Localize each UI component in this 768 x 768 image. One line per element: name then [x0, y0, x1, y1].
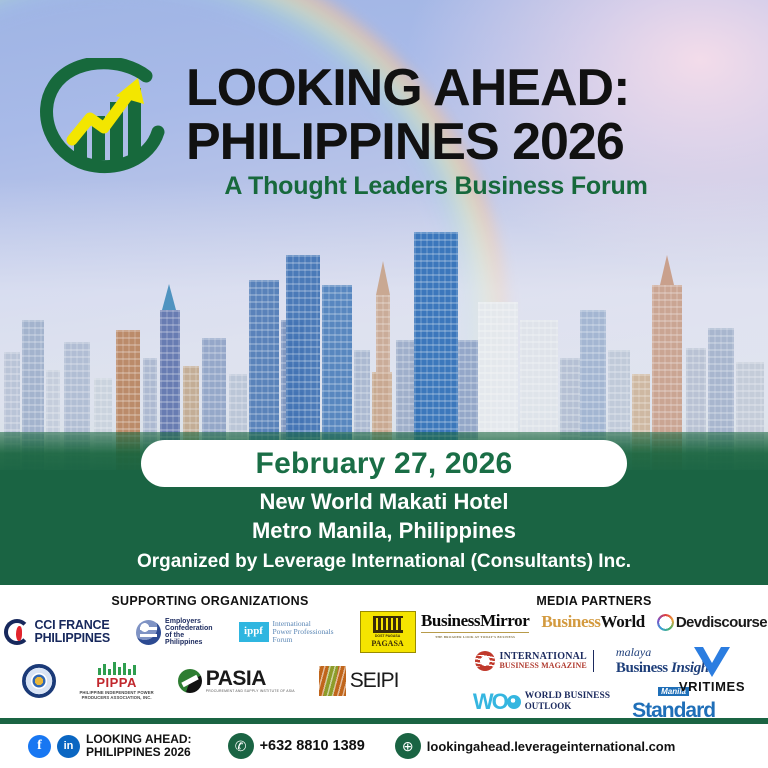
title-block: LOOKING AHEAD: PHILIPPINES 2026 [186, 62, 746, 169]
wbo-monogram-icon: WO [473, 691, 521, 714]
looking-ahead-growth-logo [34, 58, 182, 178]
devdiscourse-wordmark: Devdiscourse [676, 614, 767, 631]
logo-pasia: PASIA PROCUREMENT AND SUPPLY INSTITUTE O… [178, 668, 295, 693]
supporting-organizations-column: SUPPORTING ORGANIZATIONS CCI FRANCE PHIL… [0, 585, 420, 718]
event-date: February 27, 2026 [256, 447, 513, 481]
logo-ippf: ippf International Power Professionals F… [239, 620, 334, 643]
media-partners-heading: MEDIA PARTNERS [420, 594, 768, 608]
media-partners-column: MEDIA PARTNERS BusinessMirror THE BROADE… [420, 585, 768, 718]
phone-group[interactable]: ✆ +632 8810 1389 [228, 733, 365, 759]
event-date-pill: February 27, 2026 [141, 440, 627, 487]
title-line-1: LOOKING AHEAD: [186, 62, 746, 116]
ecop-line-4: Philippines [165, 639, 212, 646]
businessmirror-wordmark: BusinessMirror [421, 611, 529, 630]
vritimes-triangle-icon [694, 647, 730, 677]
businessworld-part-1: Business [541, 612, 600, 631]
footer-brand: LOOKING AHEAD: PHILIPPINES 2026 [86, 733, 192, 760]
ippf-line-3: Forum [273, 636, 334, 644]
pippa-bars-icon [80, 661, 154, 675]
ecop-line-1: Employers [165, 618, 212, 625]
businessmirror-tagline: THE BROADER LOOK AT TODAY'S BUSINESS [421, 635, 529, 639]
ecop-emblem-icon [136, 620, 161, 645]
event-location: Metro Manila, Philippines [0, 518, 768, 544]
media-logos-row-1: BusinessMirror THE BROADER LOOK AT TODAY… [420, 611, 768, 633]
logo-dost-seal [22, 664, 56, 698]
partners-strip: SUPPORTING ORGANIZATIONS CCI FRANCE PHIL… [0, 585, 768, 718]
logo-pagasa: DOST PAGASA PAGASA [360, 611, 416, 653]
cci-circle-icon [4, 619, 30, 645]
logo-world-business-outlook: WO WORLD BUSINESS OUTLOOK [473, 691, 610, 714]
supporting-logos-row-2: PIPPA PHILIPPINE INDEPENDENT POWER PRODU… [0, 661, 420, 700]
facebook-icon[interactable]: f [28, 735, 51, 758]
ippf-mark: ippf [239, 622, 269, 642]
ecop-line-2: Confederation [165, 625, 212, 632]
website-group[interactable]: ⊕ lookingahead.leverageinternational.com [395, 733, 676, 759]
pasia-sub: PROCUREMENT AND SUPPLY INSTITUTE OF ASIA [206, 690, 295, 694]
ibm-line-2: BUSINESS MAGAZINE [499, 662, 586, 670]
linkedin-icon[interactable]: in [57, 735, 80, 758]
logo-pippa: PIPPA PHILIPPINE INDEPENDENT POWER PRODU… [80, 661, 154, 700]
wbo-letters: WO [473, 691, 507, 714]
ecop-line-3: of the [165, 632, 212, 639]
pasia-swoosh-icon [178, 669, 202, 693]
footer-brand-line-2: PHILIPPINES 2026 [86, 746, 192, 759]
logo-vritimes: VRITIMES [670, 647, 754, 694]
pippa-wordmark: PIPPA [96, 675, 137, 690]
ibm-globe-icon [475, 651, 495, 671]
footer-brand-line-1: LOOKING AHEAD: [86, 733, 192, 746]
cci-line-2: PHILIPPINES [34, 632, 110, 645]
city-skyline [0, 210, 768, 470]
malaya-business-word: Business [616, 660, 668, 676]
pasia-label: PASIA [206, 668, 295, 690]
globe-icon[interactable]: ⊕ [395, 733, 421, 759]
pippa-sub-2: PRODUCERS ASSOCIATION, INC. [80, 695, 154, 700]
pagasa-sub: DOST PAGASA [375, 634, 400, 638]
logo-international-business-magazine: INTERNATIONAL BUSINESS MAGAZINE [475, 650, 593, 672]
phone-number[interactable]: +632 8810 1389 [260, 738, 365, 754]
event-venue: New World Makati Hotel [0, 489, 768, 515]
ibm-divider [593, 650, 594, 672]
devdiscourse-ring-icon [657, 614, 674, 631]
pagasa-emblem-icon [373, 616, 403, 633]
supporting-organizations-heading: SUPPORTING ORGANIZATIONS [0, 594, 420, 608]
logo-businessworld: BusinessWorld [541, 612, 644, 632]
pagasa-label: PAGASA [371, 639, 403, 648]
wbo-globe-icon [507, 695, 521, 709]
pippa-label: PIPPA [80, 675, 154, 690]
logo-businessmirror: BusinessMirror THE BROADER LOOK AT TODAY… [421, 611, 529, 633]
seipi-square-icon [319, 666, 346, 696]
businessworld-part-2: World [601, 612, 645, 631]
subtitle: A Thought Leaders Business Forum [186, 172, 686, 201]
logo-cci-france-philippines: CCI FRANCE PHILIPPINES [4, 619, 110, 645]
logo-seipi: SEIPI [319, 666, 399, 696]
event-poster: LOOKING AHEAD: PHILIPPINES 2026 A Though… [0, 0, 768, 768]
seipi-label: SEIPI [350, 670, 399, 692]
vritimes-wordmark: VRITIMES [670, 679, 754, 694]
title-line-2: PHILIPPINES 2026 [186, 116, 746, 170]
website-url[interactable]: lookingahead.leverageinternational.com [427, 739, 676, 754]
event-organizer: Organized by Leverage International (Con… [0, 551, 768, 573]
logo-devdiscourse: Devdiscourse [657, 614, 767, 631]
social-group: f in LOOKING AHEAD: PHILIPPINES 2026 [28, 733, 192, 760]
phone-icon[interactable]: ✆ [228, 733, 254, 759]
contact-bar: f in LOOKING AHEAD: PHILIPPINES 2026 ✆ +… [0, 724, 768, 768]
supporting-logos-row-1: CCI FRANCE PHILIPPINES Employers Confede… [0, 611, 420, 653]
wbo-line-2: OUTLOOK [525, 702, 610, 711]
logo-employers-confederation-philippines: Employers Confederation of the Philippin… [136, 618, 212, 647]
